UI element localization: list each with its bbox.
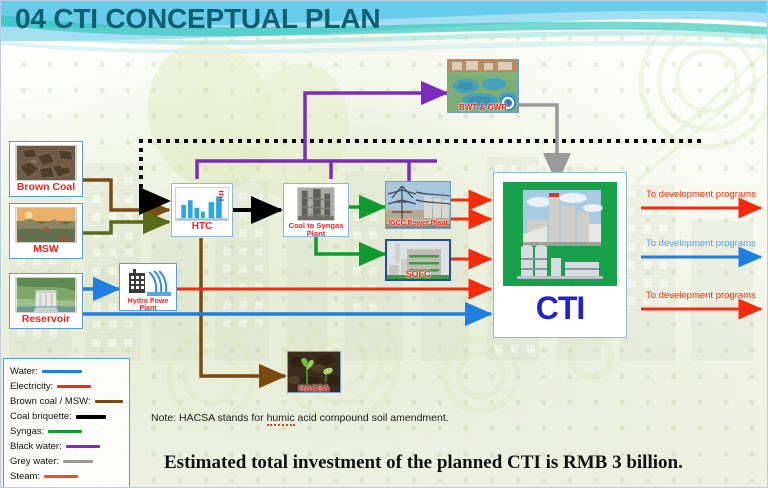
legend-label-black-water: Black water: [10, 441, 62, 452]
plant-label-hydro: Hydro Powe Plant [120, 298, 176, 313]
landfill-photo [15, 207, 77, 243]
brown-coal-photo [15, 145, 77, 181]
page-title: 04 CTI CONCEPTUAL PLAN [15, 3, 380, 35]
legend-label-coal-briquette: Coal briquette: [10, 411, 72, 422]
plant-node-sofc[interactable]: SOFC [385, 239, 451, 281]
legend-swatch-water [42, 370, 82, 373]
legend-item-grey-water: Grey water: [10, 454, 129, 469]
source-label-reservoir: Reservoir [10, 314, 82, 325]
plant-node-hacsa[interactable]: HACSA [287, 351, 341, 393]
legend-item-coal-briquette: Coal briquette: [10, 409, 129, 424]
plant-label-htc: HTC [172, 222, 232, 233]
legend-item-brown-coal-msw: Brown coal / MSW: [10, 394, 129, 409]
cti-label: CTI [494, 292, 626, 324]
plant-label-hacsa: HACSA [288, 384, 340, 393]
htc-chart-icon [175, 187, 229, 221]
legend-label-grey-water: Grey water: [10, 456, 59, 467]
source-node-reservoir[interactable]: Reservoir [9, 273, 83, 329]
plant-label-syngas: Coal to Syngas Plant [284, 222, 348, 238]
source-label-msw: MSW [10, 244, 82, 255]
plant-label-igcc: IGCC Power Plant [386, 220, 450, 227]
legend-swatch-electricity [57, 385, 91, 388]
gasifier-photo [297, 187, 335, 221]
legend-label-water: Water: [10, 366, 38, 377]
legend-item-steam: Steam: [10, 469, 129, 484]
plant-label-sofc: SOFC [387, 270, 449, 279]
note-text: Note: HACSA stands for humic acid compou… [151, 412, 449, 424]
legend-swatch-syngas [48, 430, 82, 433]
legend-label-steam: Steam: [10, 471, 40, 482]
output-label-3: To development programs [646, 290, 756, 301]
legend-label-syngas: Syngas: [10, 426, 44, 437]
hydro-plant-icon [123, 267, 173, 297]
legend-swatch-steam [44, 475, 78, 478]
plant-label-bwt-gwr: BWT & GWR [448, 104, 518, 112]
source-node-msw[interactable]: MSW [9, 203, 83, 259]
note-suffix: acid compound soil amendment. [295, 412, 449, 424]
legend-swatch-brown-coal-msw [95, 400, 123, 403]
cti-panel [503, 182, 617, 286]
slide-canvas: 04 CTI CONCEPTUAL PLAN [0, 0, 768, 488]
legend-item-electricity: Electricity: [10, 379, 129, 394]
source-label-brown-coal: Brown Coal [10, 182, 82, 193]
cti-node[interactable]: CTI [493, 172, 627, 338]
plant-node-hydro[interactable]: Hydro Powe Plant [119, 263, 177, 311]
legend-swatch-black-water [66, 445, 100, 448]
plant-node-syngas[interactable]: Coal to Syngas Plant [283, 183, 349, 237]
legend-panel: Water: Electricity: Brown coal / MSW: Co… [3, 358, 130, 488]
legend-swatch-grey-water [63, 460, 93, 463]
note-prefix: Note: HACSA stands for [151, 412, 267, 424]
legend-item-water: Water: [10, 364, 129, 379]
legend-swatch-coal-briquette [76, 415, 106, 419]
output-label-1: To development programs [646, 189, 756, 200]
note-spellchecked-word: humic [267, 412, 295, 426]
investment-statement: Estimated total investment of the planne… [164, 452, 764, 474]
legend-label-brown-coal-msw: Brown coal / MSW: [10, 396, 91, 407]
plant-node-bwt-gwr[interactable]: BWT & GWR [447, 59, 519, 113]
legend-item-black-water: Black water: [10, 439, 129, 454]
plant-node-htc[interactable]: HTC [171, 183, 233, 237]
legend-item-syngas: Syngas: [10, 424, 129, 439]
plant-node-igcc[interactable]: IGCC Power Plant [385, 181, 451, 229]
output-label-2: To development programs [646, 238, 756, 249]
legend-label-electricity: Electricity: [10, 381, 53, 392]
industrial-plant-photo [503, 182, 617, 286]
dam-photo [15, 277, 77, 313]
source-node-brown-coal[interactable]: Brown Coal [9, 141, 83, 197]
